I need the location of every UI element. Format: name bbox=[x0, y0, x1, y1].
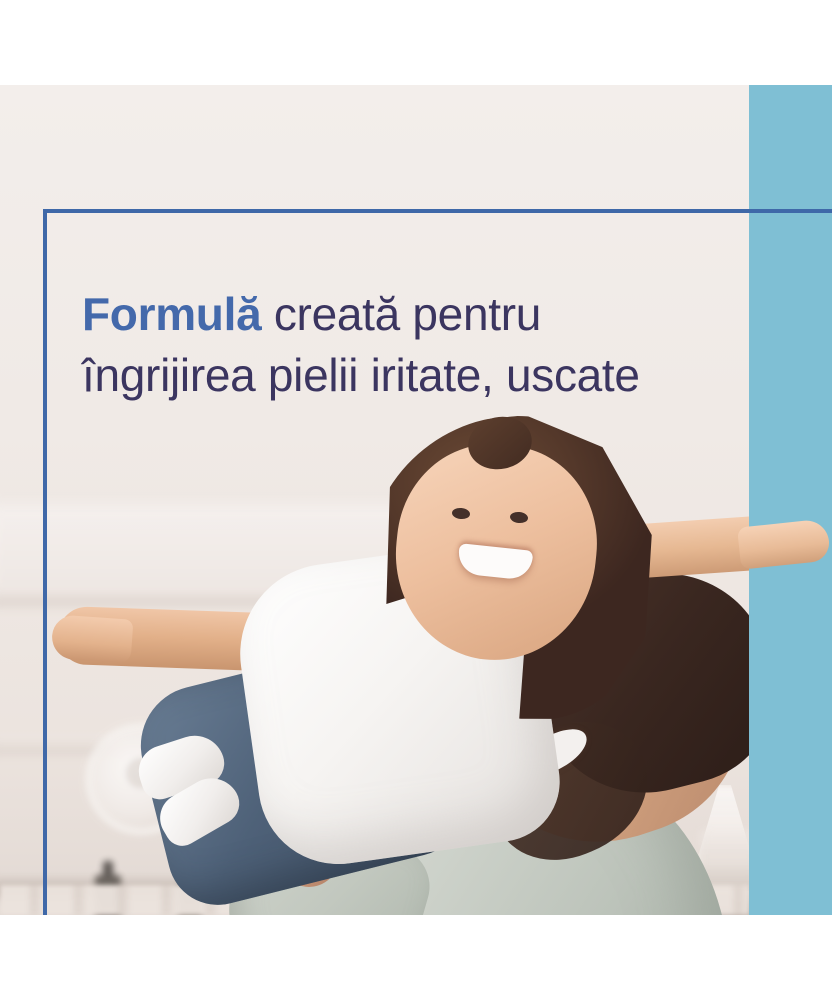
promo-banner: Formulă creată pentru îngrijirea pielii … bbox=[0, 85, 832, 915]
hero-photo bbox=[0, 85, 749, 915]
headline-accent-word: Formulă bbox=[82, 288, 261, 340]
page-title: Formulă creată pentru îngrijirea pielii … bbox=[82, 284, 702, 406]
accent-side-band bbox=[749, 85, 832, 915]
girl-hand-over-band bbox=[737, 518, 831, 569]
girl-left-hand bbox=[51, 614, 134, 663]
